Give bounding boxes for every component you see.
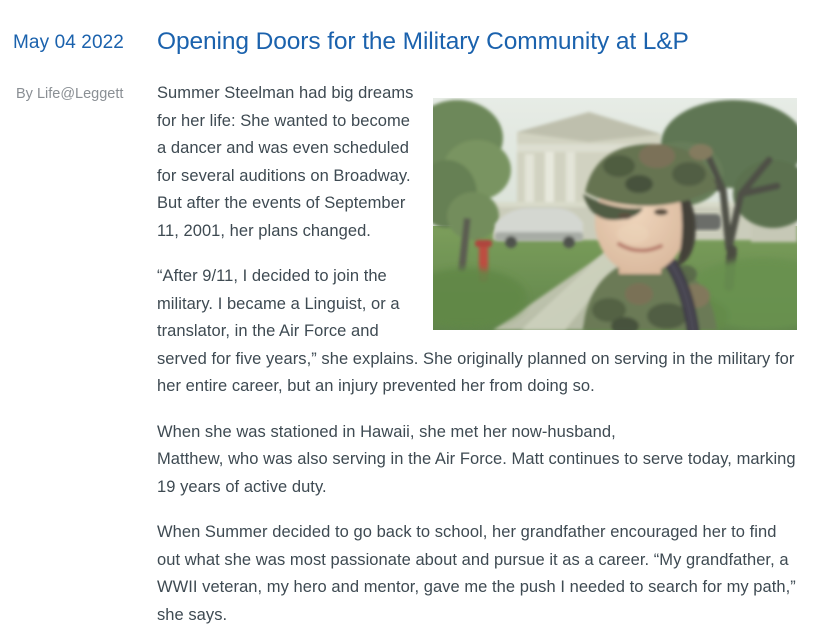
post-byline: By Life@Leggett xyxy=(16,84,123,104)
article-photo xyxy=(433,98,797,330)
article-paragraph-3-line-a: When she was stationed in Hawaii, she me… xyxy=(157,419,797,447)
photo-illustration xyxy=(433,98,797,330)
page-title: Opening Doors for the Military Community… xyxy=(157,27,797,57)
article-body: Summer Steelman had big dreams for her l… xyxy=(157,80,797,629)
article-content: Opening Doors for the Military Community… xyxy=(157,0,797,616)
article-paragraph-3: When she was stationed in Hawaii, she me… xyxy=(157,419,797,502)
article-paragraph-3-line-b: Matthew, who was also serving in the Air… xyxy=(157,450,796,496)
article-meta-sidebar: May 04 2022 By Life@Leggett xyxy=(0,0,150,616)
post-date: May 04 2022 xyxy=(13,31,124,55)
article-paragraph-4: When Summer decided to go back to school… xyxy=(157,519,797,629)
article-page: May 04 2022 By Life@Leggett Opening Door… xyxy=(0,0,816,616)
